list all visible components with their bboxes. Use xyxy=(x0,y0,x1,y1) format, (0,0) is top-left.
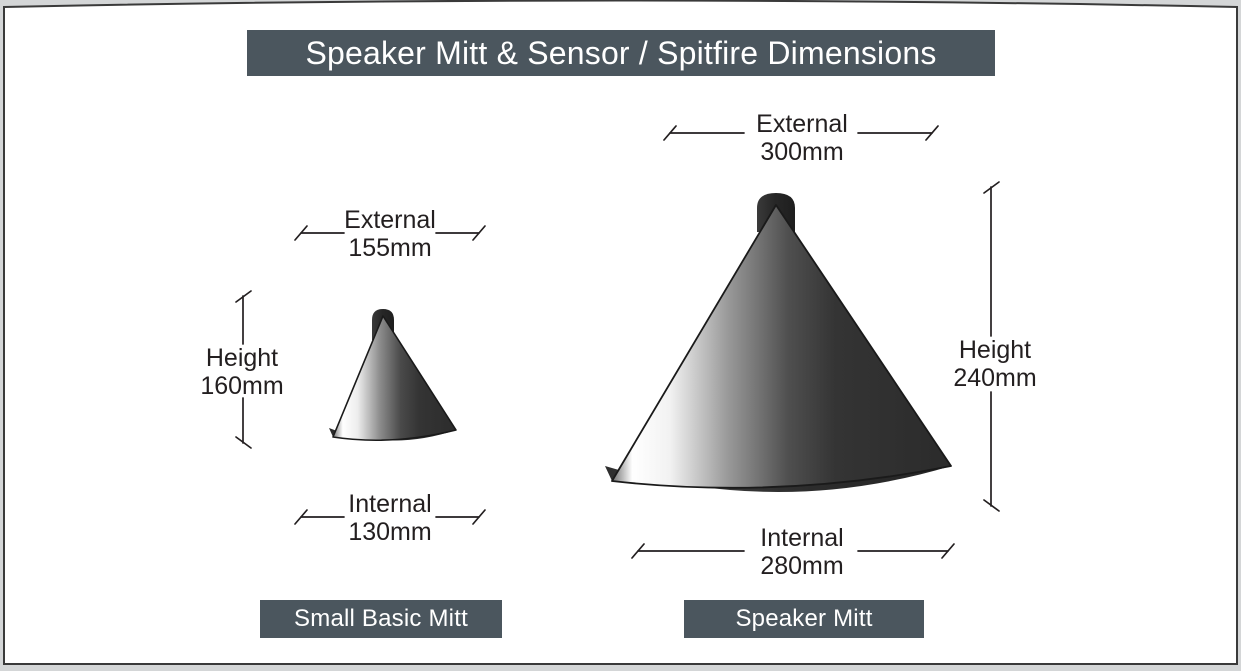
speaker-mitt-internal-label-value: 280mm xyxy=(690,552,914,580)
diagram-page: Speaker Mitt & Sensor / Spitfire Dimensi… xyxy=(0,0,1241,671)
speaker-mitt-external-label-value: 300mm xyxy=(690,138,914,166)
page-title: Speaker Mitt & Sensor / Spitfire Dimensi… xyxy=(247,30,995,76)
small-mitt-height-label: Height 160mm xyxy=(186,344,298,400)
small-mitt-external-label-text: External xyxy=(296,206,484,234)
caption-speaker-mitt: Speaker Mitt xyxy=(684,600,924,638)
speaker-mitt-height-label: Height 240mm xyxy=(936,336,1054,392)
small-mitt-height-label-value: 160mm xyxy=(186,372,298,400)
speaker-mitt-external-label: External 300mm xyxy=(690,110,914,166)
small-mitt-external-label: External 155mm xyxy=(296,206,484,262)
speaker-mitt-internal-label: Internal 280mm xyxy=(690,524,914,580)
page-sheet xyxy=(4,1,1237,665)
small-mitt-internal-label-value: 130mm xyxy=(296,518,484,546)
small-mitt-internal-label: Internal 130mm xyxy=(296,490,484,546)
speaker-mitt-internal-label-text: Internal xyxy=(690,524,914,552)
page-background xyxy=(0,0,1241,671)
small-mitt-external-label-value: 155mm xyxy=(296,234,484,262)
small-mitt-height-label-text: Height xyxy=(186,344,298,372)
small-mitt-internal-label-text: Internal xyxy=(296,490,484,518)
speaker-mitt-external-label-text: External xyxy=(690,110,914,138)
diagram-canvas xyxy=(0,0,1241,671)
speaker-mitt-height-label-text: Height xyxy=(936,336,1054,364)
speaker-mitt-height-label-value: 240mm xyxy=(936,364,1054,392)
caption-small-basic-mitt: Small Basic Mitt xyxy=(260,600,502,638)
